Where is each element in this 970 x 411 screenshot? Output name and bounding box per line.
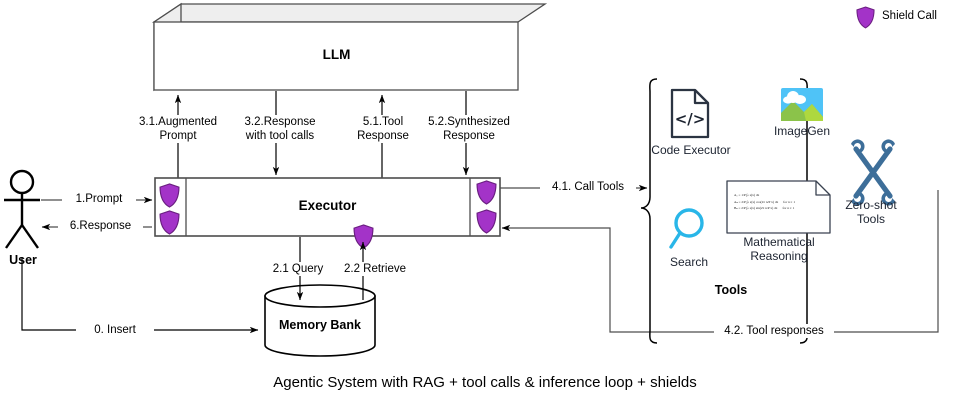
svg-text:</>: </> xyxy=(675,110,706,128)
tools-left-brace xyxy=(641,79,657,343)
tool-label-search: Search xyxy=(655,255,723,269)
math-formula-text: A₀ = 1/P ∫ₚ s(x) dx Aₙ = 2/P ∫ₚ s(x) cos… xyxy=(729,186,836,212)
flow-2-1-label: 2.1 Query xyxy=(262,262,334,276)
user-label: User xyxy=(0,253,46,267)
shield-icon xyxy=(857,7,874,28)
magnifier-icon xyxy=(671,210,702,247)
flow-5-1-label: 5.1.Tool Response xyxy=(348,115,418,143)
tool-label-mathematical-reasoning: Mathematical Reasoning xyxy=(724,235,834,263)
user-node xyxy=(4,171,40,248)
flow-3-2-label: 3.2.Response with tool calls xyxy=(234,115,326,143)
flow-4-2-label: 4.2. Tool responses xyxy=(714,324,834,338)
diagram-caption: Agentic System with RAG + tool calls & i… xyxy=(0,374,970,391)
tool-label-zero-shot-tools: Zero-shot Tools xyxy=(832,198,910,226)
tool-label-code-executor: Code Executor xyxy=(645,143,737,157)
flow-0-label: 0. Insert xyxy=(76,323,154,337)
flow-1-label: 1.Prompt xyxy=(62,192,136,206)
image-gen-icon xyxy=(781,88,823,121)
flow-3-1-label: 3.1.Augmented Prompt xyxy=(137,115,219,143)
flow-5-2-label: 5.2.Synthesized Response xyxy=(425,115,513,143)
llm-label: LLM xyxy=(264,48,409,62)
crossed-wrenches-icon xyxy=(856,149,890,196)
tools-group-label: Tools xyxy=(692,283,770,297)
flow-6-label: 6.Response xyxy=(58,219,143,233)
code-document-icon: </> xyxy=(672,90,708,137)
tool-label-imagegen: ImageGen xyxy=(760,124,844,138)
flow-4-1-label: 4.1. Call Tools xyxy=(540,180,636,194)
diagram-canvas: </> xyxy=(0,0,970,411)
memory-bank-label: Memory Bank xyxy=(255,318,385,332)
flow-0-arrow xyxy=(22,257,258,330)
legend-shield-label: Shield Call xyxy=(882,9,962,23)
flow-2-2-label: 2.2 Retrieve xyxy=(333,262,417,276)
executor-label: Executor xyxy=(255,199,400,213)
